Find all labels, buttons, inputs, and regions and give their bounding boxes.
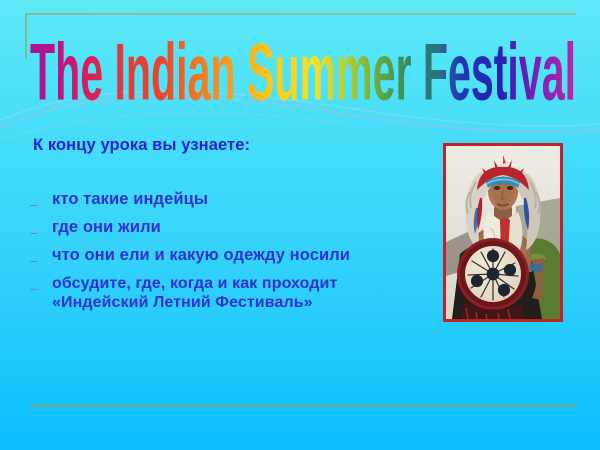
title-text: The Indian Summer Festival xyxy=(30,26,576,117)
native-american-photo xyxy=(443,143,563,322)
list-item-label: обсудите, где, когда и как проходит «Инд… xyxy=(52,274,420,312)
bullet-dash-icon xyxy=(30,274,52,295)
lesson-objectives-heading: К концу урока вы узнаете: xyxy=(33,136,250,155)
title-wordart-svg: The Indian Summer Festival xyxy=(30,14,578,121)
photo-illustration xyxy=(446,146,560,319)
list-item: где они жили xyxy=(30,218,420,239)
list-item: обсудите, где, когда и как проходит «Инд… xyxy=(30,274,420,312)
slide-canvas: The Indian Summer Festival К концу урока… xyxy=(0,0,600,450)
left-decorative-bracket xyxy=(25,13,27,59)
list-item-label: где они жили xyxy=(52,218,420,237)
list-item: что они ели и какую одежду носили xyxy=(30,246,420,267)
list-item-label: кто такие индейцы xyxy=(52,190,420,209)
objectives-list: кто такие индейцы где они жили что они е… xyxy=(30,190,420,323)
list-item-label: что они ели и какую одежду носили xyxy=(52,246,420,265)
slide-title: The Indian Summer Festival xyxy=(30,14,578,121)
bullet-dash-icon xyxy=(30,190,52,211)
bullet-dash-icon xyxy=(30,218,52,239)
bottom-decorative-rule xyxy=(30,404,576,407)
list-item: кто такие индейцы xyxy=(30,190,420,211)
bullet-dash-icon xyxy=(30,246,52,267)
